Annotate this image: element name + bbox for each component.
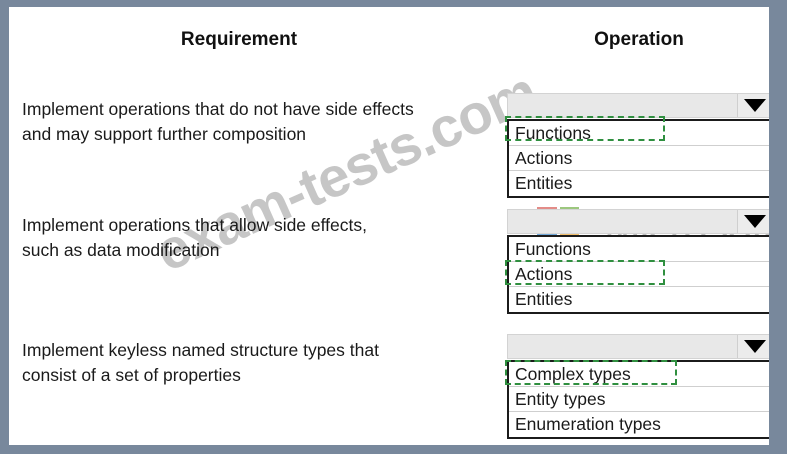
dropdown-header[interactable]: [507, 334, 769, 359]
image-frame: exam-tests.com Microsoft Requirement Ope…: [0, 0, 787, 454]
requirement-line: Implement keyless named structure types …: [22, 338, 492, 363]
dropdown-option[interactable]: Entities: [509, 171, 769, 196]
requirement-text: Implement operations that do not have si…: [22, 97, 492, 147]
requirement-line: consist of a set of properties: [22, 363, 492, 388]
chevron-down-icon: [744, 340, 766, 353]
dropdown-option-list[interactable]: Complex types Entity types Enumeration t…: [507, 360, 769, 439]
column-header-requirement: Requirement: [69, 29, 409, 51]
question-canvas: exam-tests.com Microsoft Requirement Ope…: [9, 7, 769, 445]
dropdown-option[interactable]: Complex types: [509, 362, 769, 387]
dropdown-option[interactable]: Actions: [509, 146, 769, 171]
dropdown-option[interactable]: Entities: [509, 287, 769, 312]
operation-dropdown[interactable]: Functions Actions Entities: [507, 209, 769, 314]
operation-dropdown[interactable]: Complex types Entity types Enumeration t…: [507, 334, 769, 439]
dropdown-option[interactable]: Entity types: [509, 387, 769, 412]
dropdown-option[interactable]: Functions: [509, 237, 769, 262]
requirement-line: such as data modification: [22, 238, 492, 263]
dropdown-header[interactable]: [507, 209, 769, 234]
operation-dropdown[interactable]: Functions Actions Entities: [507, 93, 769, 198]
column-header-operation: Operation: [514, 29, 764, 51]
table-row: Implement operations that do not have si…: [9, 85, 769, 201]
dropdown-toggle-button[interactable]: [737, 335, 769, 358]
dropdown-option-list[interactable]: Functions Actions Entities: [507, 119, 769, 198]
requirement-text: Implement keyless named structure types …: [22, 338, 492, 388]
table-row: Implement operations that allow side eff…: [9, 201, 769, 326]
dropdown-header[interactable]: [507, 93, 769, 118]
dropdown-toggle-button[interactable]: [737, 210, 769, 233]
requirement-line: Implement operations that do not have si…: [22, 97, 492, 122]
chevron-down-icon: [744, 99, 766, 112]
table-row: Implement keyless named structure types …: [9, 326, 769, 445]
dropdown-option-list[interactable]: Functions Actions Entities: [507, 235, 769, 314]
requirement-line: Implement operations that allow side eff…: [22, 213, 492, 238]
dropdown-option[interactable]: Enumeration types: [509, 412, 769, 437]
requirement-text: Implement operations that allow side eff…: [22, 213, 492, 263]
chevron-down-icon: [744, 215, 766, 228]
dropdown-toggle-button[interactable]: [737, 94, 769, 117]
dropdown-option[interactable]: Functions: [509, 121, 769, 146]
dropdown-option[interactable]: Actions: [509, 262, 769, 287]
requirement-line: and may support further composition: [22, 122, 492, 147]
